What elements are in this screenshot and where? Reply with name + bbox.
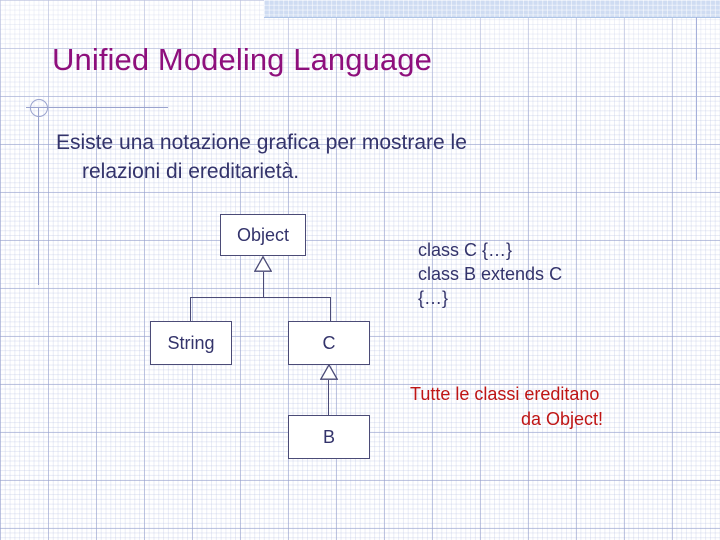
uml-class-label-b: B: [323, 427, 335, 448]
uml-class-label-c: C: [323, 333, 336, 354]
uml-class-box-c: C: [288, 321, 370, 365]
uml-edge-drop-string: [190, 297, 191, 322]
uml-edge-drop-c: [330, 297, 331, 322]
uml-edge-b-stem: [328, 380, 329, 416]
code-line-1: class C {…}: [418, 238, 668, 262]
uml-edge-bus: [190, 297, 331, 298]
uml-class-label-object: Object: [237, 225, 289, 246]
callout-line-2: da Object!: [410, 407, 690, 432]
uml-class-box-string: String: [150, 321, 232, 365]
uml-class-label-string: String: [167, 333, 214, 354]
generalization-arrowhead-to-object: [254, 256, 272, 272]
uml-edge-object-stem: [263, 272, 264, 298]
generalization-arrowhead-to-c: [320, 364, 338, 380]
callout-note: Tutte le classi ereditano da Object!: [410, 382, 690, 432]
code-snippet: class C {…} class B extends C {…}: [418, 238, 668, 310]
callout-line-1: Tutte le classi ereditano: [410, 382, 690, 407]
code-line-2: class B extends C: [418, 262, 668, 286]
uml-class-box-b: B: [288, 415, 370, 459]
uml-class-box-object: Object: [220, 214, 306, 256]
slide-canvas: Unified Modeling Language Esiste una not…: [0, 0, 720, 540]
code-line-3: {…}: [418, 286, 668, 310]
